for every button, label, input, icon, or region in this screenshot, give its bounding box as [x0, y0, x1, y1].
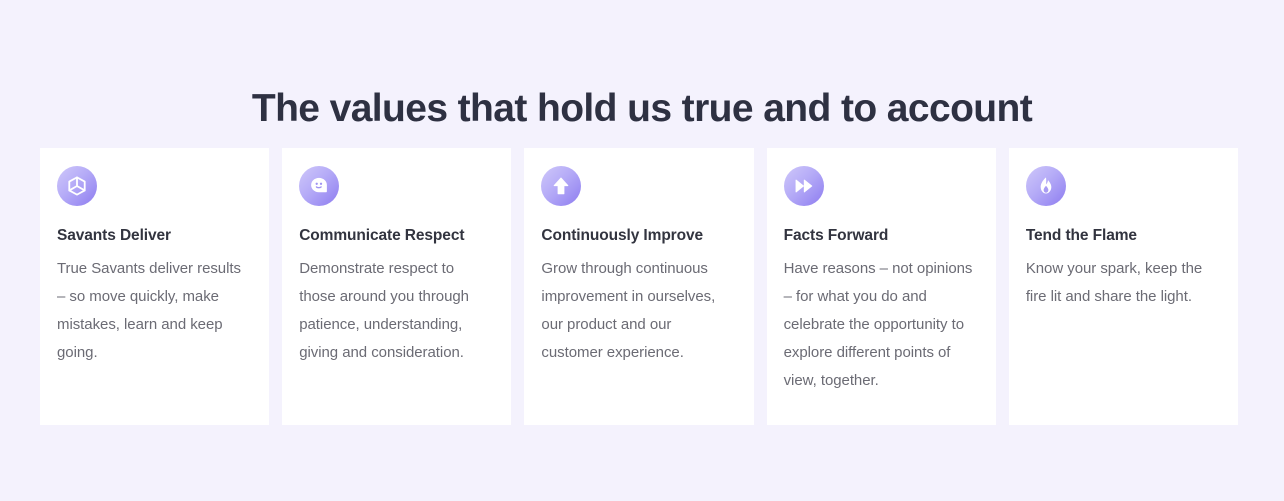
value-card-title: Tend the Flame — [1026, 226, 1221, 245]
values-card-row: Savants Deliver True Savants deliver res… — [40, 148, 1238, 425]
value-card-title: Facts Forward — [784, 226, 979, 245]
value-card-body: Grow through continuous improvement in o… — [541, 255, 736, 367]
value-card-continuously-improve[interactable]: Continuously Improve Grow through contin… — [524, 148, 753, 425]
fast-forward-icon — [784, 166, 824, 206]
arrow-up-icon — [541, 166, 581, 206]
value-card-body: True Savants deliver results – so move q… — [57, 255, 252, 367]
value-card-body: Have reasons – not opinions – for what y… — [784, 255, 979, 395]
value-card-communicate-respect[interactable]: Communicate Respect Demonstrate respect … — [282, 148, 511, 425]
value-card-title: Continuously Improve — [541, 226, 736, 245]
value-card-body: Know your spark, keep the fire lit and s… — [1026, 255, 1221, 311]
flame-icon — [1026, 166, 1066, 206]
value-card-body: Demonstrate respect to those around you … — [299, 255, 494, 367]
value-card-title: Savants Deliver — [57, 226, 252, 245]
cube-icon — [57, 166, 97, 206]
value-card-savants-deliver[interactable]: Savants Deliver True Savants deliver res… — [40, 148, 269, 425]
values-section: The values that hold us true and to acco… — [0, 0, 1284, 501]
value-card-facts-forward[interactable]: Facts Forward Have reasons – not opinion… — [767, 148, 996, 425]
page-title: The values that hold us true and to acco… — [0, 86, 1284, 133]
value-card-tend-the-flame[interactable]: Tend the Flame Know your spark, keep the… — [1009, 148, 1238, 425]
value-card-title: Communicate Respect — [299, 226, 494, 245]
speech-bubble-smiley-icon — [299, 166, 339, 206]
